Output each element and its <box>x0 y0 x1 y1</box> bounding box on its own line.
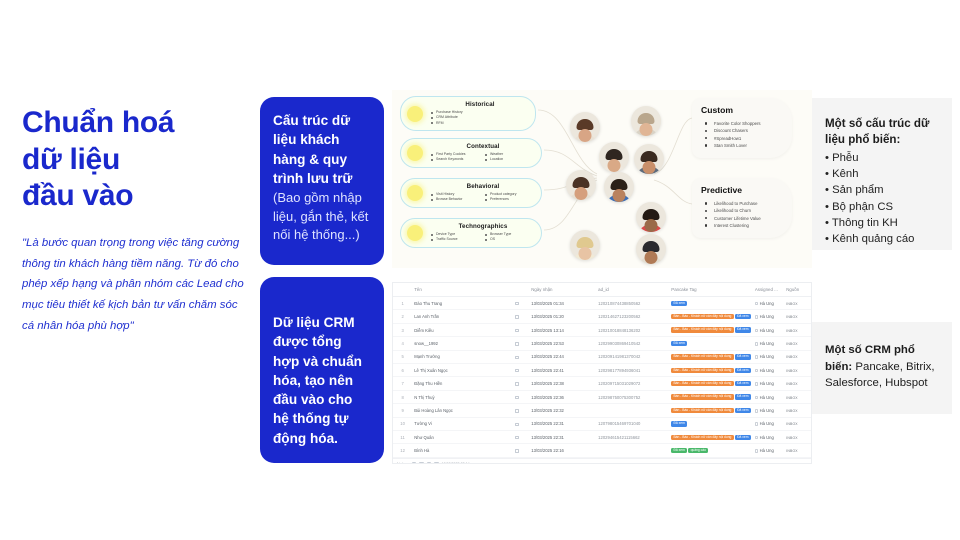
row-mail-icon[interactable] <box>513 297 530 310</box>
col-pancake-tag[interactable]: Pancake Tag <box>669 283 753 297</box>
row-tags[interactable]: Đã xemquảng cáo <box>669 444 753 457</box>
diagram-item: RFM <box>431 121 529 126</box>
table-row[interactable]: 7Đặng Thu Hiền13/03/2025 22:381202097150… <box>393 377 811 390</box>
footer-row-label: Ngân... <box>397 462 409 464</box>
row-assigned[interactable]: Hà Ung <box>753 404 784 417</box>
row-mail-icon[interactable] <box>513 377 530 390</box>
row-mail-icon[interactable] <box>513 350 530 363</box>
crm-table-screenshot[interactable]: Tên Ngày nhận ad_id Pancake Tag Assigned… <box>392 282 812 464</box>
row-name: Lan Anh Trần <box>412 310 512 323</box>
row-name: Mạnh Trường <box>412 350 512 363</box>
row-date: 13/03/2025 01:34 <box>529 297 596 310</box>
row-mail-icon[interactable] <box>513 404 530 417</box>
tag-pill[interactable]: Bán - Báo - Khách nữ cần đây nội dung <box>671 327 733 332</box>
table-row[interactable]: 5Mạnh Trường13/03/2025 22:44120209141981… <box>393 350 811 363</box>
row-ad-id: 120298177894936041 <box>596 364 669 377</box>
row-source: INBOX <box>784 431 811 444</box>
row-assigned[interactable]: Hà Ung <box>753 297 784 310</box>
table-row[interactable]: 11Như Quân13/03/2025 22:3112029461542111… <box>393 431 811 444</box>
table-body: 1Đào Thu Trang13/03/2025 01:341202108744… <box>393 297 811 458</box>
avatar <box>566 170 596 200</box>
caption-top-soft: (Bao gồm nhập liệu, gắn thẻ, kết nối hệ … <box>273 189 371 244</box>
row-mail-icon[interactable] <box>513 390 530 403</box>
row-name: Diễm Kiều <box>412 323 512 336</box>
caption-bottom-strong: Dữ liệu CRM được tổng hợp và chuẩn hóa, … <box>273 313 371 448</box>
row-index: 4 <box>393 337 412 350</box>
tag-pill[interactable]: Bán - Báo - Khách nữ cần đây nội dung <box>671 408 733 413</box>
tag-pill[interactable]: Bán - Báo - Khách nữ cần đây nội dung <box>671 394 733 399</box>
diagram-card-historical: Historical Purchase History CRM Attribut… <box>400 96 536 131</box>
row-ad-id: 120209715031029072 <box>596 377 669 390</box>
col-assigned[interactable]: Assigned ... <box>753 283 784 297</box>
diagram-card-col: Visit History Browse Behavior <box>431 192 481 203</box>
row-name: Bùi Hoàng Lân Ngọc <box>412 404 512 417</box>
row-index: 12 <box>393 444 412 457</box>
info-panel-list-item: • Phễu <box>825 150 939 166</box>
tag-pill[interactable]: Đã xem <box>671 448 687 453</box>
row-date: 13/03/2025 01:20 <box>529 310 596 323</box>
customer-data-diagram: Historical Purchase History CRM Attribut… <box>392 90 812 268</box>
diagram-item: Browse Behavior <box>431 197 481 202</box>
row-assigned[interactable]: Hà Ung <box>753 310 784 323</box>
row-date: 13/03/2025 22:31 <box>529 431 596 444</box>
tag-pill[interactable]: Đã xem <box>735 381 751 386</box>
diagram-card-col: Weather Location <box>485 152 535 163</box>
row-assigned[interactable]: Hà Ung <box>753 323 784 336</box>
diagram-item: Search Keywords <box>431 157 481 162</box>
dot-icon <box>407 106 423 122</box>
segment-item: Likelihood to Purchase <box>701 200 783 207</box>
row-source: INBOX <box>784 297 811 310</box>
row-index: 3 <box>393 323 412 336</box>
info-panel-list-item: • Kênh quảng cáo <box>825 231 939 247</box>
diagram-card-col: Purchase History CRM Attribute RFM <box>431 110 529 126</box>
tag-pill[interactable]: quảng cáo <box>688 448 708 453</box>
row-ad-id <box>596 444 669 457</box>
row-name: Như Quân <box>412 431 512 444</box>
row-name: Tường Vi <box>412 417 512 430</box>
col-index[interactable] <box>393 283 412 297</box>
row-index: 11 <box>393 431 412 444</box>
table-row[interactable]: 9Bùi Hoàng Lân Ngọc13/03/2025 22:32Bán -… <box>393 404 811 417</box>
diagram-item: OS <box>485 237 535 242</box>
diagram-card-title: Behavioral <box>431 183 535 190</box>
col-ad-id[interactable]: ad_id <box>596 283 669 297</box>
info-panel-body: Một số CRM phổ biến: Pancake, Bitrix, Sa… <box>825 342 939 392</box>
row-date: 13/03/2025 22:44 <box>529 350 596 363</box>
row-name: N Thị Thuỳ <box>412 390 512 403</box>
diagram-card-col: Product category Preferences <box>485 192 535 203</box>
tag-pill[interactable]: Bán - Báo - Khách nữ cần đây nội dung <box>671 435 733 440</box>
tag-pill[interactable]: Đã xem <box>671 341 687 346</box>
avatar <box>570 112 600 142</box>
diagram-card-technographics: Technographics Device Type Traffic Sourc… <box>400 218 542 248</box>
diagram-card-behavioral: Behavioral Visit History Browse Behavior… <box>400 178 542 208</box>
tag-pill[interactable]: Đã xem <box>735 327 751 332</box>
row-name: Đào Thu Trang <box>412 297 512 310</box>
row-date: 13/03/2025 22:38 <box>529 377 596 390</box>
row-ad-id: 120210018848136202 <box>596 323 669 336</box>
row-tags[interactable]: Bán - Báo - Khách nữ cần đây nội dungĐã … <box>669 431 753 444</box>
diagram-card-title: Historical <box>431 101 529 108</box>
edit-icon[interactable] <box>412 462 417 464</box>
info-panel-crm-list: Một số CRM phổ biến: Pancake, Bitrix, Sa… <box>812 322 952 414</box>
table-row[interactable]: 10Tường Vi13/03/2025 22:3112079801546970… <box>393 417 811 430</box>
customer-avatar-cluster <box>552 94 700 266</box>
diagram-card-col: First Party Cookies Search Keywords <box>431 152 481 163</box>
row-tags[interactable]: Bán - Báo - Khách nữ cần đây nội dungĐã … <box>669 323 753 336</box>
diagram-item: Traffic Source <box>431 237 481 242</box>
dot-icon <box>407 225 423 241</box>
diagram-card-title: Contextual <box>431 143 535 150</box>
col-name[interactable]: Tên <box>412 283 512 297</box>
row-index: 8 <box>393 390 412 403</box>
segment-item: Stan Smith Lover <box>701 142 783 149</box>
segment-item: Discount Chasers <box>701 127 783 134</box>
col-icon[interactable] <box>513 283 530 297</box>
row-tags[interactable]: Bán - Báo - Khách nữ cần đây nội dungĐã … <box>669 404 753 417</box>
diagram-item: Preferences <box>485 197 535 202</box>
info-panel-heading: Một số cấu trúc dữ liệu phổ biến: <box>825 116 939 149</box>
segment-box-predictive: Predictive Likelihood to Purchase Likeli… <box>692 178 792 238</box>
row-assigned[interactable]: Hà Ung <box>753 444 784 457</box>
avatar <box>604 172 634 202</box>
row-tags[interactable]: Bán - Báo - Khách nữ cần đây nội dungĐã … <box>669 350 753 363</box>
row-ad-id: 120299030869410542 <box>596 337 669 350</box>
table-row[interactable]: 3Diễm Kiều13/03/2025 13:1412021001884813… <box>393 323 811 336</box>
row-source: INBOX <box>784 417 811 430</box>
diagram-card-title: Technographics <box>431 223 535 230</box>
table-row[interactable]: 8N Thị Thuỳ13/03/2025 22:361202987500753… <box>393 390 811 403</box>
row-mail-icon[interactable] <box>513 323 530 336</box>
row-date: 13/03/2025 22:31 <box>529 417 596 430</box>
mail-icon[interactable] <box>434 462 439 464</box>
row-tags[interactable]: Bán - Báo - Khách nữ cần đây nội dungĐã … <box>669 390 753 403</box>
row-index: 10 <box>393 417 412 430</box>
row-assigned[interactable]: Hà Ung <box>753 417 784 430</box>
row-tags[interactable]: Bán - Báo - Khách nữ cần đây nội dungĐã … <box>669 364 753 377</box>
tag-pill[interactable]: Đã xem <box>671 301 687 306</box>
row-ad-id: 120298750075300752 <box>596 390 669 403</box>
row-ad-id: 120294615421115662 <box>596 431 669 444</box>
row-source: INBOX <box>784 364 811 377</box>
row-date: 13/03/2025 22:16 <box>529 444 596 457</box>
info-panel-list-item: • Bộ phận CS <box>825 199 939 215</box>
row-index: 5 <box>393 350 412 363</box>
row-mail-icon[interactable] <box>513 364 530 377</box>
row-index: 2 <box>393 310 412 323</box>
tag-pill[interactable]: Đã xem <box>735 435 751 440</box>
row-mail-icon[interactable] <box>513 417 530 430</box>
avatar <box>631 106 661 136</box>
row-source: INBOX <box>784 310 811 323</box>
row-tags[interactable]: Bán - Báo - Khách nữ cần đây nội dungĐã … <box>669 377 753 390</box>
avatar <box>634 144 664 174</box>
row-ad-id: 120798015469701040 <box>596 417 669 430</box>
tag-pill[interactable]: Bán - Báo - Khách nữ cần đây nội dung <box>671 368 733 373</box>
row-source: INBOX <box>784 404 811 417</box>
segment-item: #SpreadHow1 <box>701 135 783 142</box>
diagram-card-contextual: Contextual First Party Cookies Search Ke… <box>400 138 542 168</box>
row-source: INBOX <box>784 337 811 350</box>
crm-table: Tên Ngày nhận ad_id Pancake Tag Assigned… <box>393 283 811 458</box>
segment-item: Favorite Color Shoppers <box>701 120 783 127</box>
tag-pill[interactable]: Bán - Báo - Khách nữ cần đây nội dung <box>671 381 733 386</box>
slide-intro-column: Chuẩn hoá dữ liệu đầu vào "Là bước quan … <box>22 105 244 337</box>
row-assigned[interactable]: Hà Ung <box>753 350 784 363</box>
segment-item: Likelihood to Churn <box>701 207 783 214</box>
tag-pill[interactable]: Đã xem <box>735 394 751 399</box>
row-date: 13/03/2025 22:41 <box>529 364 596 377</box>
table-row[interactable]: 12Bình Hà13/03/2025 22:16Đã xemquảng cáo… <box>393 444 811 457</box>
info-panel-data-structures: Một số cấu trúc dữ liệu phổ biến: • Phễu… <box>812 98 952 250</box>
row-mail-icon[interactable] <box>513 431 530 444</box>
table-header-row: Tên Ngày nhận ad_id Pancake Tag Assigned… <box>393 283 811 297</box>
info-panel-list: • Phễu• Kênh• Sản phẩm• Bộ phận CS• Thôn… <box>825 150 939 248</box>
caption-top-strong: Cấu trúc dữ liệu khách hàng & quy trình … <box>273 111 371 188</box>
row-tags[interactable]: Đã xem <box>669 337 753 350</box>
avatar <box>636 202 666 232</box>
tag-pill[interactable]: Đã xem <box>735 408 751 413</box>
row-date: 13/03/2025 22:36 <box>529 390 596 403</box>
row-source: INBOX <box>784 350 811 363</box>
row-assigned[interactable]: Hà Ung <box>753 337 784 350</box>
row-tags[interactable]: Đã xem <box>669 297 753 310</box>
tag-pill[interactable]: Đã xem <box>735 368 751 373</box>
tag-pill[interactable]: Bán - Báo - Khách nữ cần đây nội dung <box>671 314 733 319</box>
diagram-card-col: Browser Type OS <box>485 232 535 243</box>
segment-box-title: Custom <box>701 105 783 115</box>
row-date: 13/03/2025 22:53 <box>529 337 596 350</box>
row-ad-id: 120214627123200562 <box>596 310 669 323</box>
intro-quote: "Là bước quan trọng trong việc tăng cườn… <box>22 233 244 337</box>
row-assigned[interactable]: Hà Ung <box>753 377 784 390</box>
segment-item: Interest Clustering <box>701 222 783 229</box>
tag-pill[interactable]: Bán - Báo - Khách nữ cần đây nội dung <box>671 354 733 359</box>
delete-icon[interactable] <box>419 462 424 464</box>
table-row[interactable]: 1Đào Thu Trang13/03/2025 01:341202108744… <box>393 297 811 310</box>
footer-date: 13/03/2025 22:14 <box>442 462 470 464</box>
row-assigned[interactable]: Hà Ung <box>753 364 784 377</box>
tag-pill[interactable]: Đã xem <box>735 314 751 319</box>
row-name: snow__1992 <box>412 337 512 350</box>
avatar <box>570 230 600 260</box>
info-panel-list-item: • Sản phẩm <box>825 182 939 198</box>
row-assigned[interactable]: Hà Ung <box>753 431 784 444</box>
row-source: INBOX <box>784 323 811 336</box>
table-row[interactable]: 4snow__199213/03/2025 22:531202990308694… <box>393 337 811 350</box>
table-footer[interactable]: Ngân... 13/03/2025 22:14 <box>393 458 811 464</box>
col-source[interactable]: Nguồn <box>784 283 811 297</box>
avatar <box>599 142 629 172</box>
table-row[interactable]: 6Lê Thị Xuân Ngọc13/03/2025 22:411202981… <box>393 364 811 377</box>
row-index: 7 <box>393 377 412 390</box>
caption-card-data-structure: Cấu trúc dữ liệu khách hàng & quy trình … <box>260 97 384 265</box>
headline-line-2: dữ liệu <box>22 142 244 179</box>
tag-pill[interactable]: Đã xem <box>671 421 687 426</box>
info-panel-list-item: • Thông tin KH <box>825 215 939 231</box>
row-date: 13/03/2025 22:32 <box>529 404 596 417</box>
row-assigned[interactable]: Hà Ung <box>753 390 784 403</box>
diagram-item: Location <box>485 157 535 162</box>
diagram-card-col: Device Type Traffic Source <box>431 232 481 243</box>
segment-box-title: Predictive <box>701 185 783 195</box>
row-ad-id: 120210874438850562 <box>596 297 669 310</box>
row-date: 13/03/2025 13:14 <box>529 323 596 336</box>
row-name: Bình Hà <box>412 444 512 457</box>
row-mail-icon[interactable] <box>513 444 530 457</box>
row-source: INBOX <box>784 444 811 457</box>
segment-box-custom: Custom Favorite Color Shoppers Discount … <box>692 98 792 158</box>
row-index: 1 <box>393 297 412 310</box>
row-source: INBOX <box>784 377 811 390</box>
row-name: Lê Thị Xuân Ngọc <box>412 364 512 377</box>
caption-card-crm: Dữ liệu CRM được tổng hợp và chuẩn hóa, … <box>260 277 384 463</box>
row-tags[interactable]: Đã xem <box>669 417 753 430</box>
row-mail-icon[interactable] <box>513 337 530 350</box>
avatar <box>636 234 666 264</box>
info-panel-list-item: • Kênh <box>825 166 939 182</box>
col-date[interactable]: Ngày nhận <box>529 283 596 297</box>
table-row[interactable]: 2Lan Anh Trần13/03/2025 01:2012021462712… <box>393 310 811 323</box>
row-mail-icon[interactable] <box>513 310 530 323</box>
row-ad-id <box>596 404 669 417</box>
headline-line-3: đầu vào <box>22 178 244 215</box>
row-index: 9 <box>393 404 412 417</box>
dot-icon <box>407 185 423 201</box>
row-ad-id: 120209141981370042 <box>596 350 669 363</box>
headline-line-1: Chuẩn hoá <box>22 105 244 142</box>
page-title: Chuẩn hoá dữ liệu đầu vào <box>22 105 244 215</box>
row-index: 6 <box>393 364 412 377</box>
row-name: Đặng Thu Hiền <box>412 377 512 390</box>
tag-pill[interactable]: Đã xem <box>735 354 751 359</box>
row-source: INBOX <box>784 390 811 403</box>
link-icon[interactable] <box>427 462 432 464</box>
segment-item: Customer Lifetime Value <box>701 215 783 222</box>
dot-icon <box>407 145 423 161</box>
row-tags[interactable]: Bán - Báo - Khách nữ cần đây nội dungĐã … <box>669 310 753 323</box>
